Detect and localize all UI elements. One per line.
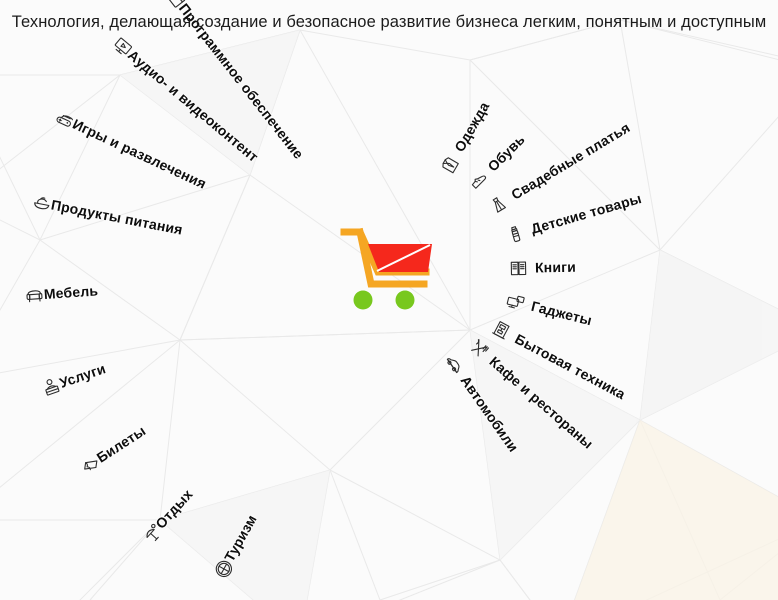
- category-label: Обувь: [484, 131, 527, 174]
- category-label: Детские товары: [529, 190, 643, 237]
- shopping-cart-icon: [338, 224, 438, 316]
- cart-wheel-left: [354, 291, 373, 310]
- armchair-icon: [24, 285, 44, 305]
- infographic-canvas: Технология, делающая создание и безопасн…: [0, 0, 778, 600]
- page-title: Технология, делающая создание и безопасн…: [0, 0, 778, 35]
- category-label: Билеты: [94, 422, 149, 465]
- category-label: Книги: [535, 259, 576, 276]
- category-label: Услуги: [57, 360, 107, 391]
- page-title-text: Технология, делающая создание и безопасн…: [0, 9, 778, 35]
- shirt-icon: [437, 152, 463, 178]
- cutlery-icon: [466, 335, 493, 362]
- category-label: Туризм: [221, 512, 260, 564]
- category-item[interactable]: Мебель: [17, 268, 258, 307]
- book-icon: [509, 258, 528, 277]
- category-label: Игры и развлечения: [70, 116, 209, 192]
- category-label: Гаджеты: [530, 298, 594, 329]
- category-label: Продукты питания: [50, 197, 184, 238]
- category-label: Свадебные платья: [508, 119, 632, 203]
- category-item[interactable]: Услуги: [32, 303, 266, 402]
- category-item[interactable]: Книги: [509, 256, 576, 279]
- car-icon: [441, 351, 467, 377]
- category-label: Одежда: [451, 99, 492, 154]
- category-label: Отдых: [152, 486, 195, 532]
- baby-bottle-icon: [504, 222, 528, 246]
- category-label: Мебель: [43, 282, 98, 302]
- coffee-machine-icon: [489, 317, 515, 343]
- food-bowl-icon: [31, 191, 53, 213]
- cart-wheel-right: [396, 291, 415, 310]
- dress-icon: [485, 191, 511, 217]
- shoe-icon: [465, 167, 492, 194]
- monitor-icon: [504, 290, 527, 313]
